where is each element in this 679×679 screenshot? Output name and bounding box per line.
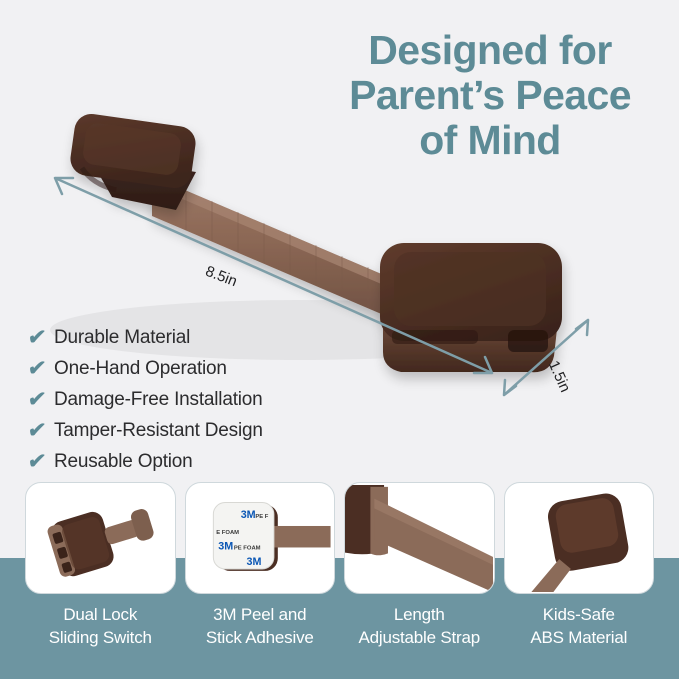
abs-lock-body-icon — [505, 483, 653, 592]
product-infographic: 8.5in 1.5in Designed for Parent’s Peace … — [0, 0, 679, 679]
3m-brand-text: 3M — [218, 540, 233, 552]
caption-row: Dual Lock Sliding Switch 3M Peel and Sti… — [25, 603, 654, 663]
caption-line-2: Adjustable Strap — [344, 626, 495, 649]
thumbnail-card-adjustable-strap — [344, 482, 495, 594]
feature-label: Tamper-Resistant Design — [54, 420, 263, 442]
feature-item: ✔ Damage-Free Installation — [28, 384, 358, 415]
feature-label: Durable Material — [54, 327, 190, 349]
caption-dual-lock: Dual Lock Sliding Switch — [25, 603, 176, 663]
headline-line-3: of Mind — [318, 118, 662, 163]
thumbnail-card-abs-material — [504, 482, 655, 594]
caption-line-1: Dual Lock — [25, 603, 176, 626]
caption-adjustable-strap: Length Adjustable Strap — [344, 603, 495, 663]
headline-line-2: Parent’s Peace — [318, 73, 662, 118]
check-icon: ✔ — [27, 358, 56, 379]
feature-item: ✔ Reusable Option — [28, 446, 358, 477]
lock-body-sliding-switch-icon — [26, 483, 174, 592]
pe-foam-text: PE FOAM — [233, 545, 260, 551]
caption-line-1: 3M Peel and — [185, 603, 336, 626]
adjustable-strap-icon — [345, 483, 493, 592]
check-icon: ✔ — [27, 389, 56, 410]
caption-abs-material: Kids-Safe ABS Material — [504, 603, 655, 663]
3m-adhesive-pad-icon: 3M PE F E FOAM 3M PE FOAM 3M — [186, 483, 334, 592]
pe-foam-text: PE F — [255, 514, 268, 520]
feature-label: Reusable Option — [54, 451, 193, 473]
lock-slot — [508, 330, 548, 352]
caption-line-2: Sliding Switch — [25, 626, 176, 649]
headline-line-1: Designed for — [318, 28, 662, 73]
caption-3m-adhesive: 3M Peel and Stick Adhesive — [185, 603, 336, 663]
caption-line-1: Kids-Safe — [504, 603, 655, 626]
3m-brand-text: 3M — [246, 556, 261, 568]
feature-label: Damage-Free Installation — [54, 389, 263, 411]
feature-item: ✔ Durable Material — [28, 322, 358, 353]
headline: Designed for Parent’s Peace of Mind — [318, 28, 662, 163]
pe-foam-text: E FOAM — [216, 530, 239, 536]
check-icon: ✔ — [27, 327, 56, 348]
thumbnail-card-dual-lock — [25, 482, 176, 594]
feature-item: ✔ One-Hand Operation — [28, 353, 358, 384]
check-icon: ✔ — [27, 420, 56, 441]
caption-line-2: Stick Adhesive — [185, 626, 336, 649]
strap — [152, 176, 400, 322]
feature-item: ✔ Tamper-Resistant Design — [28, 415, 358, 446]
thumbnail-row: 3M PE F E FOAM 3M PE FOAM 3M — [25, 482, 654, 594]
thumbnail-card-3m-adhesive: 3M PE F E FOAM 3M PE FOAM 3M — [185, 482, 336, 594]
caption-line-2: ABS Material — [504, 626, 655, 649]
anchor-pad — [68, 112, 197, 210]
caption-line-1: Length — [344, 603, 495, 626]
lock-body — [380, 243, 562, 372]
feature-label: One-Hand Operation — [54, 358, 227, 380]
3m-brand-text: 3M — [240, 509, 255, 521]
check-icon: ✔ — [27, 451, 56, 472]
feature-list: ✔ Durable Material ✔ One-Hand Operation … — [28, 322, 358, 477]
